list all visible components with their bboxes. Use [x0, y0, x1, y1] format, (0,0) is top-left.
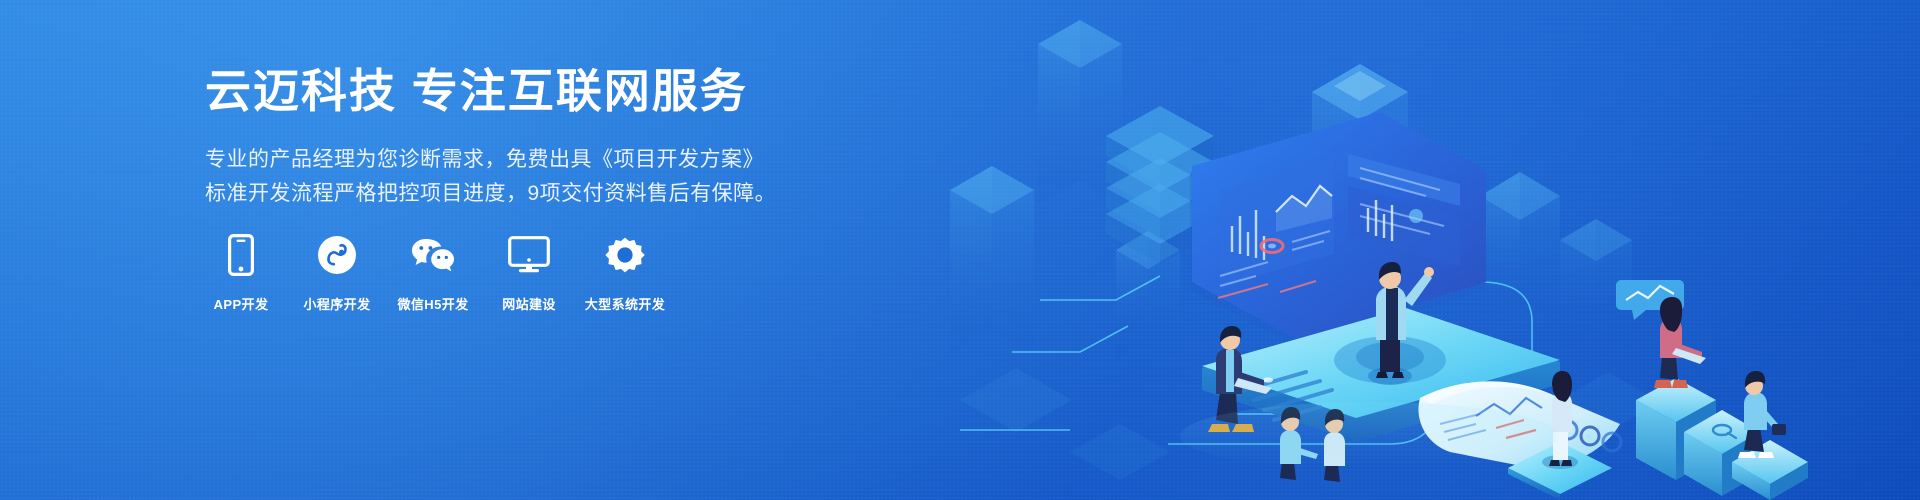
- dashboard-screen: [1190, 112, 1486, 348]
- hero-subtitle-line-2: 标准开发流程严格把控项目进度，9项交付资料售后有保障。: [205, 177, 905, 211]
- service-label: 微信H5开发: [397, 294, 468, 313]
- service-item-wechat[interactable]: 微信H5开发: [397, 232, 469, 313]
- service-item-website[interactable]: 网站建设: [493, 232, 565, 313]
- service-list: APP开发 小程序开发: [205, 232, 661, 313]
- hero-subtitle: 专业的产品经理为您诊断需求，免费出具《项目开发方案》 标准开发流程严格把控项目进…: [205, 143, 905, 211]
- hero-illustration: [920, 0, 1920, 500]
- wechat-icon: [410, 232, 456, 278]
- service-item-app[interactable]: APP开发: [205, 232, 277, 313]
- service-label: APP开发: [214, 294, 269, 313]
- service-label: 大型系统开发: [585, 294, 665, 313]
- person-walking: [1738, 371, 1786, 458]
- page-title: 云迈科技 专注互联网服务: [205, 64, 905, 119]
- hero-subtitle-line-1: 专业的产品经理为您诊断需求，免费出具《项目开发方案》: [205, 143, 905, 177]
- mobile-phone-icon: [228, 232, 254, 278]
- hero-banner: 云迈科技 专注互联网服务 专业的产品经理为您诊断需求，免费出具《项目开发方案》 …: [0, 0, 1920, 500]
- service-label: 网站建设: [502, 294, 556, 313]
- service-item-miniprogram[interactable]: 小程序开发: [301, 232, 373, 313]
- service-item-system[interactable]: 大型系统开发: [589, 232, 661, 313]
- step-blocks: [1636, 378, 1808, 500]
- hero-copy: 云迈科技 专注互联网服务 专业的产品经理为您诊断需求，免费出具《项目开发方案》 …: [205, 64, 905, 211]
- gear-icon: [605, 232, 645, 278]
- person-woman-laptop: [1654, 297, 1706, 388]
- service-label: 小程序开发: [303, 294, 370, 313]
- mini-program-icon: [317, 232, 357, 278]
- monitor-icon: [508, 232, 550, 278]
